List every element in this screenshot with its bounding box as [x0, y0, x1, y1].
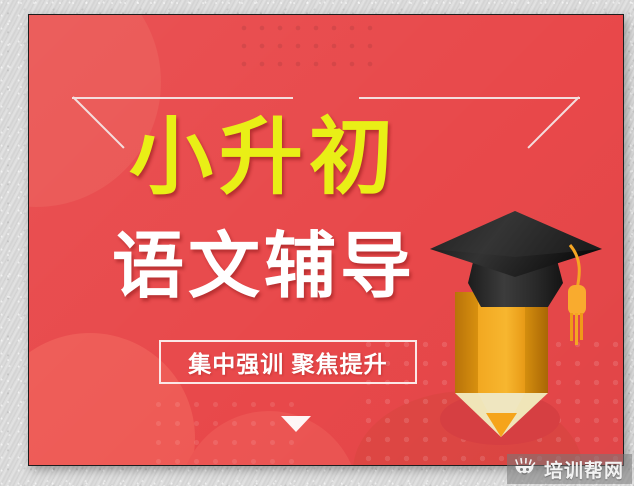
pencil-facet-right [525, 292, 548, 393]
bracket-right-diagonal-line [527, 96, 579, 148]
bracket-right-horizontal-line [359, 97, 580, 99]
bracket-left-horizontal-line [72, 97, 293, 99]
decor-circle-bottom-center [179, 411, 359, 466]
red-poster-card: 小升初 语文辅导 集中强训 聚焦提升 [28, 14, 624, 466]
tagline-text: 集中强训 聚焦提升 [188, 345, 387, 379]
sun-face-logo-icon [513, 458, 537, 480]
pencil-facet-middle [478, 292, 525, 393]
tassel-knob [568, 285, 586, 315]
decor-dots-top [235, 19, 377, 75]
watermark-text: 培训帮网 [544, 456, 624, 483]
main-title: 小升初 [29, 113, 499, 201]
down-arrow-icon [272, 412, 320, 438]
tagline-box: 集中强训 聚焦提升 [159, 340, 417, 384]
sub-title: 语文辅导 [29, 227, 499, 307]
pencil-facet-left [455, 292, 478, 393]
poster-canvas: 小升初 语文辅导 集中强训 聚焦提升 [0, 0, 634, 486]
watermark: 培训帮网 [507, 454, 632, 484]
